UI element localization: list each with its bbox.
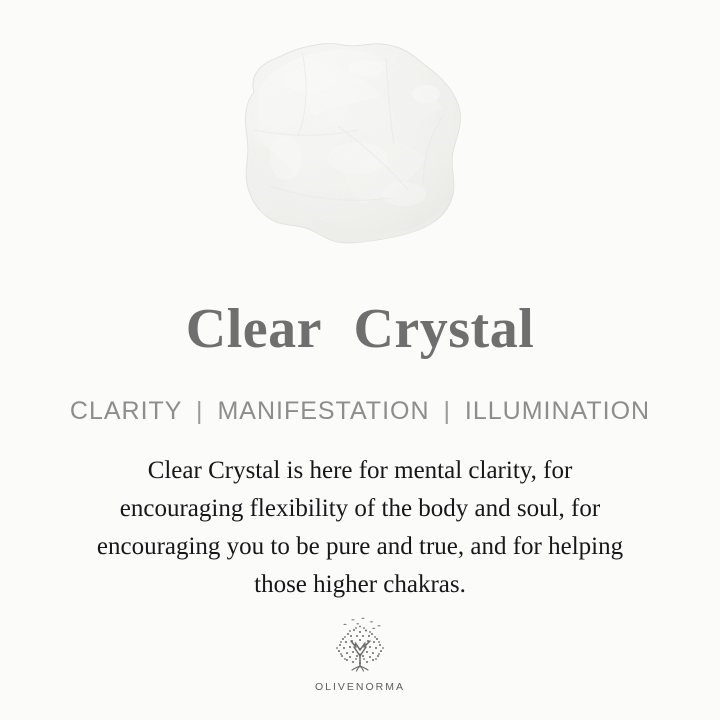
keyword-illumination: ILLUMINATION bbox=[465, 397, 650, 425]
brand-wordmark: OLIVENORMA bbox=[0, 681, 720, 693]
brand-logo: OLIVENORMA bbox=[0, 616, 720, 693]
description-line-3: encouraging you to be pure and true, and… bbox=[48, 528, 672, 566]
product-info-card: Clear Crystal CLARITY | MANIFESTATION | … bbox=[0, 0, 720, 720]
description-line-2: encouraging flexibility of the body and … bbox=[48, 490, 672, 528]
keyword-list: CLARITY | MANIFESTATION | ILLUMINATION bbox=[0, 396, 720, 426]
page-title: Clear Crystal bbox=[0, 298, 720, 360]
olive-tree-icon bbox=[321, 616, 399, 680]
keyword-separator-1: | bbox=[190, 397, 210, 425]
clear-quartz-crystal-image bbox=[190, 18, 490, 276]
product-image-area bbox=[0, 0, 720, 285]
description-line-4: those higher chakras. bbox=[48, 566, 672, 604]
description-line-1: Clear Crystal is here for mental clarity… bbox=[48, 452, 672, 490]
keyword-manifestation: MANIFESTATION bbox=[217, 397, 429, 425]
keyword-clarity: CLARITY bbox=[70, 397, 182, 425]
description-paragraph: Clear Crystal is here for mental clarity… bbox=[48, 452, 672, 604]
keyword-separator-2: | bbox=[437, 397, 457, 425]
